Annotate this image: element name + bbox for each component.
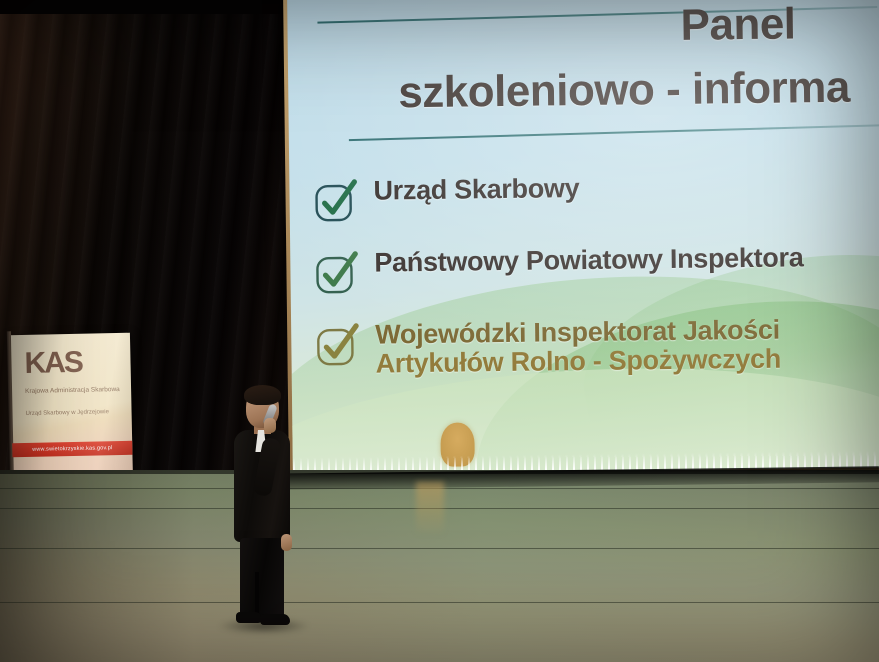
check-circle-icon: [313, 179, 360, 226]
slide-bullet-label: Urząd Skarbowy: [373, 174, 579, 205]
slide-divider-bottom: [349, 124, 879, 141]
slide-title-line-1: Panel: [680, 0, 795, 51]
projection-screen-frame: Panel szkoleniowo - informa Urząd Skarbo…: [283, 0, 879, 482]
floor-plank-seam: [0, 548, 879, 549]
slide-bullet-item: Urząd Skarbowy: [301, 170, 879, 226]
speaker-trousers: [240, 538, 284, 616]
slide-bullet-list: Urząd Skarbowy Państwowy Powiatowy Inspe…: [301, 170, 879, 403]
check-circle-icon: [315, 323, 362, 370]
speaker-shoe: [236, 612, 262, 623]
slide-bullet-label: Państwowy Powiatowy Inspektora: [374, 243, 803, 277]
slide-bullet-item: Wojewódzki Inspektorat Jakości Artykułów…: [303, 314, 879, 379]
slide-bullet-item: Państwowy Powiatowy Inspektora: [302, 242, 879, 298]
stage-photo-scene: Panel szkoleniowo - informa Urząd Skarbo…: [0, 0, 879, 662]
floor-reflection: [416, 482, 444, 536]
presentation-slide: Panel szkoleniowo - informa Urząd Skarbo…: [287, 0, 879, 475]
speaker-hair: [244, 385, 281, 405]
speaker-leg-gap: [255, 572, 259, 616]
speaker-hand: [281, 534, 292, 551]
slide-bullet-label-line-2: Artykułów Rolno - Spożywczych: [375, 343, 781, 378]
speaker-shoe: [260, 614, 290, 625]
check-circle-icon: [314, 251, 361, 298]
speaker-person: [224, 388, 298, 632]
slide-bullet-label: Wojewódzki Inspektorat Jakości Artykułów…: [375, 316, 781, 378]
slide-title-line-2: szkoleniowo - informa: [398, 63, 850, 119]
speaker-hand-holding-microphone: [264, 418, 276, 433]
floor-plank-seam: [0, 602, 879, 603]
